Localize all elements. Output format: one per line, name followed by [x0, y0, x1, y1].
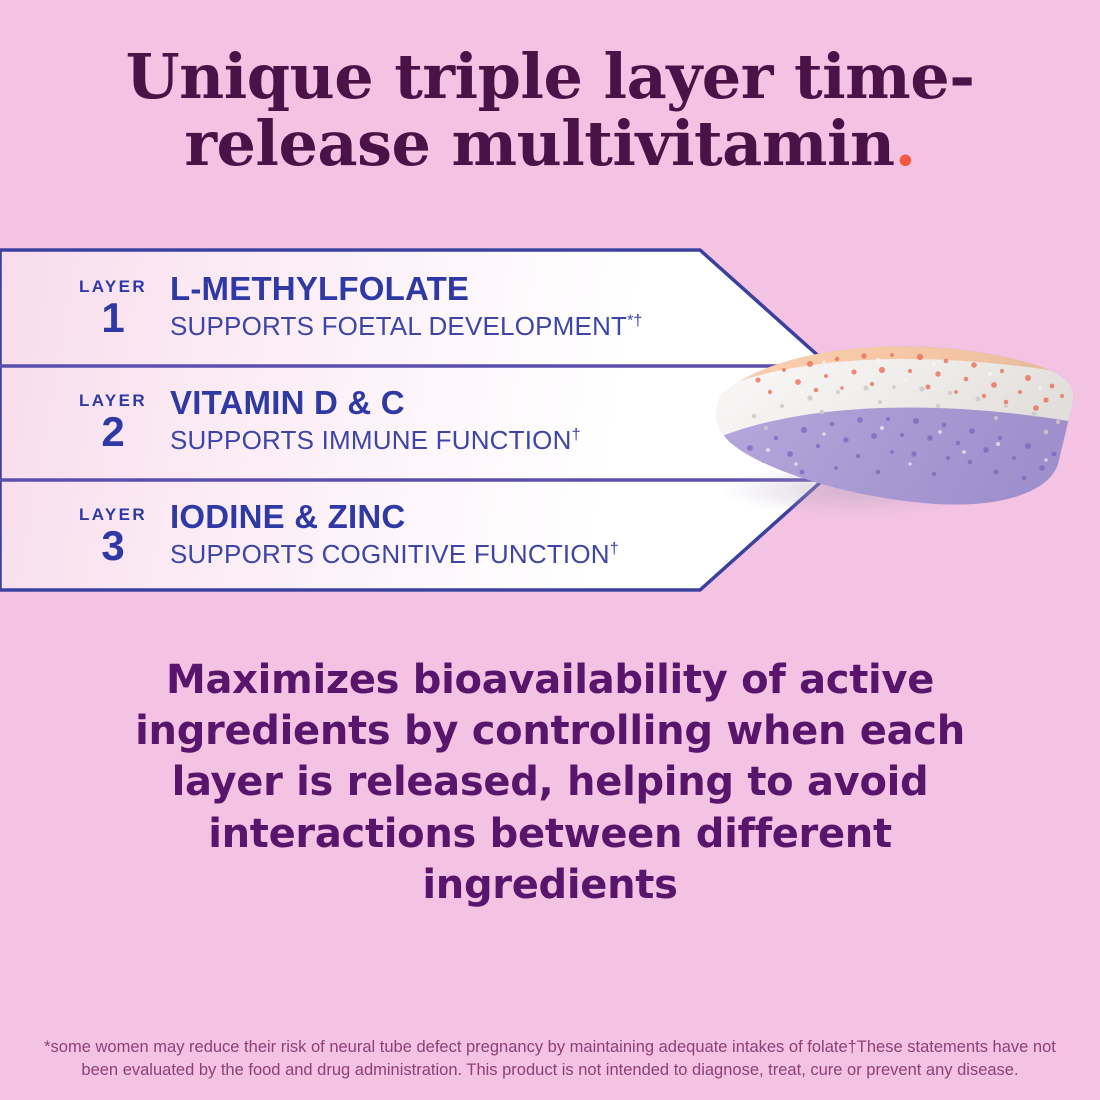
layer-text-1: L-METHYLFOLATE SUPPORTS FOETAL DEVELOPME…: [154, 271, 642, 342]
disclaimer-line-3: intended to diagnose, treat, cure or pre…: [606, 1061, 1019, 1079]
layer-subtitle-text-2: SUPPORTS IMMUNE FUNCTION: [170, 425, 572, 455]
layer-title-1: L-METHYLFOLATE: [170, 271, 642, 308]
layer-footnote-mark-1: *†: [627, 312, 642, 330]
layer-label-2: LAYER: [72, 392, 154, 409]
layer-number-3: 3: [72, 525, 154, 567]
body-copy: Maximizes bioavailability of active ingr…: [0, 655, 1100, 911]
layer-subtitle-text-3: SUPPORTS COGNITIVE FUNCTION: [170, 539, 610, 569]
headline-accent-dot: .: [895, 107, 916, 180]
disclaimer: *some women may reduce their risk of neu…: [0, 1036, 1100, 1082]
layer-number-1: 1: [72, 297, 154, 339]
layer-subtitle-3: SUPPORTS COGNITIVE FUNCTION†: [170, 539, 619, 570]
body-copy-line-5: ingredients: [422, 862, 677, 908]
layer-index-2: LAYER 2: [72, 390, 154, 453]
headline-line-2: release multivitamin: [184, 107, 894, 180]
headline-line-1: Unique triple layer time-: [126, 40, 975, 113]
layer-number-2: 2: [72, 411, 154, 453]
body-copy-line-1: Maximizes bioavailability of active: [166, 657, 934, 703]
layer-row-2: LAYER 2 VITAMIN D & C SUPPORTS IMMUNE FU…: [72, 366, 581, 476]
layer-label-1: LAYER: [72, 278, 154, 295]
layer-index-3: LAYER 3: [72, 504, 154, 567]
disclaimer-line-1: *some women may reduce their risk of neu…: [44, 1038, 803, 1056]
tablet-image: [706, 332, 1078, 514]
layer-footnote-mark-3: †: [610, 540, 619, 558]
layer-text-2: VITAMIN D & C SUPPORTS IMMUNE FUNCTION†: [154, 385, 581, 456]
body-copy-line-3: layer is released, helping to avoid: [172, 759, 929, 805]
body-copy-line-2: ingredients by controlling when each: [135, 708, 965, 754]
layer-row-3: LAYER 3 IODINE & ZINC SUPPORTS COGNITIVE…: [72, 480, 619, 590]
layer-row-1: LAYER 1 L-METHYLFOLATE SUPPORTS FOETAL D…: [72, 252, 642, 362]
layer-title-3: IODINE & ZINC: [170, 499, 619, 536]
layer-subtitle-1: SUPPORTS FOETAL DEVELOPMENT*†: [170, 311, 642, 342]
layer-subtitle-2: SUPPORTS IMMUNE FUNCTION†: [170, 425, 581, 456]
layer-title-2: VITAMIN D & C: [170, 385, 581, 422]
layer-label-3: LAYER: [72, 506, 154, 523]
body-copy-line-4: interactions between different: [208, 811, 892, 857]
tablet-illustration: [706, 332, 1078, 514]
layer-footnote-mark-2: †: [572, 426, 581, 444]
layer-subtitle-text-1: SUPPORTS FOETAL DEVELOPMENT: [170, 311, 627, 341]
layer-index-1: LAYER 1: [72, 276, 154, 339]
layer-text-3: IODINE & ZINC SUPPORTS COGNITIVE FUNCTIO…: [154, 499, 619, 570]
page-title: Unique triple layer time- release multiv…: [0, 44, 1100, 178]
